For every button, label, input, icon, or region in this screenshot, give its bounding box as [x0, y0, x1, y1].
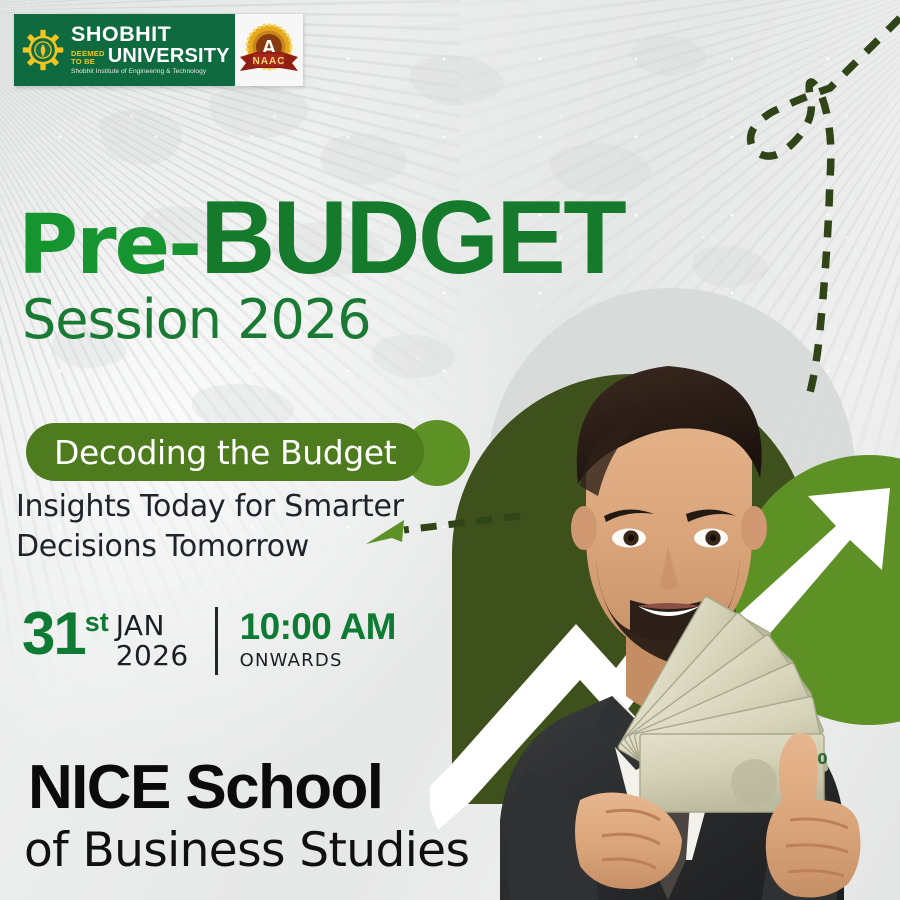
event-time-block: 10:00 AM ONWARDS	[240, 607, 396, 671]
event-datetime: 31 st JAN 2026 10:00 AM ONWARDS	[22, 605, 396, 675]
datetime-divider	[215, 607, 218, 675]
event-date: 31 st JAN 2026	[22, 605, 189, 670]
tagline-line2: Decisions Tomorrow	[16, 527, 404, 567]
dashed-loop-curve-icon	[680, 0, 900, 400]
headline-prefix: Pre-	[18, 198, 200, 293]
logo-deemed-text: DEEMED TO BE	[71, 50, 105, 66]
svg-text:NAAC: NAAC	[252, 56, 285, 67]
event-time: 10:00 AM	[240, 607, 396, 648]
naac-badge: A NAAC	[235, 14, 303, 86]
naac-accreditation-seal-icon: A NAAC	[236, 21, 302, 79]
logo-name-line1: SHOBHIT	[71, 24, 230, 46]
dashed-left-arrow-icon	[352, 500, 522, 560]
event-tagline: Insights Today for Smarter Decisions Tom…	[16, 487, 404, 567]
university-logo-bar: SHOBHIT DEEMED TO BE UNIVERSITY Shobhit …	[14, 14, 303, 86]
logo-wordmark: SHOBHIT DEEMED TO BE UNIVERSITY Shobhit …	[71, 24, 230, 76]
event-time-note: ONWARDS	[240, 650, 396, 671]
headline-subtitle: Session 2026	[22, 288, 371, 351]
page-title: Pre-BUDGET	[18, 186, 624, 290]
logo-green-panel: SHOBHIT DEEMED TO BE UNIVERSITY Shobhit …	[14, 14, 235, 86]
event-day-suffix: st	[85, 609, 109, 636]
headline-main: BUDGET	[200, 180, 624, 296]
poster-canvas: ₹500	[0, 0, 900, 900]
logo-institute-tagline: Shobhit Institute of Engineering & Techn…	[71, 69, 230, 76]
decoding-banner: Decoding the Budget	[26, 423, 424, 481]
decoding-banner-label: Decoding the Budget	[54, 433, 396, 472]
school-name-line2: of Business Studies	[24, 823, 469, 878]
logo-name-line2: UNIVERSITY	[108, 46, 230, 66]
university-crest-icon	[21, 28, 65, 72]
event-day: 31	[22, 605, 85, 664]
tagline-line1: Insights Today for Smarter	[16, 487, 404, 527]
school-name-line1: NICE School	[28, 752, 382, 823]
event-month: JAN	[116, 611, 189, 641]
event-year: 2026	[116, 641, 189, 671]
